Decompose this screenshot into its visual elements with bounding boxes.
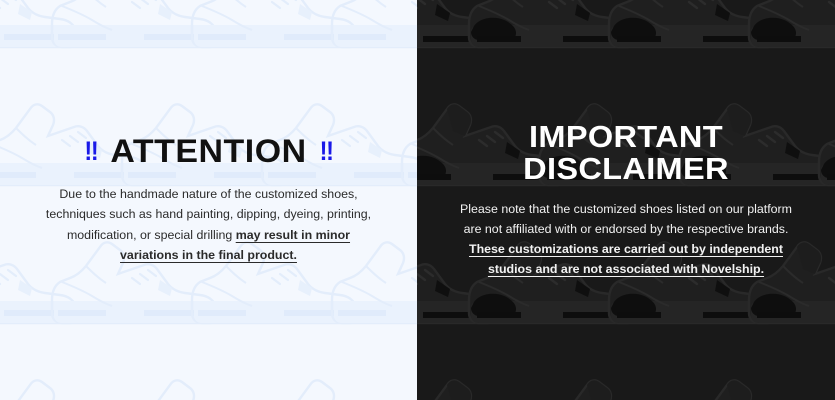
disclaimer-body-plain: Please note that the customized shoes li…: [460, 202, 792, 236]
disclaimer-banner: !! ATTENTION !! Due to the handmade natu…: [0, 0, 835, 400]
disclaimer-headline-line2: DISCLAIMER: [449, 153, 804, 185]
disclaimer-content: IMPORTANT DISCLAIMER Please note that th…: [417, 121, 835, 280]
disclaimer-body-emphasis: These customizations are carried out by …: [469, 242, 783, 276]
attention-panel: !! ATTENTION !! Due to the handmade natu…: [0, 0, 417, 400]
bang-left: !!: [84, 138, 97, 165]
disclaimer-headline: IMPORTANT DISCLAIMER: [449, 121, 804, 185]
attention-headline: !! ATTENTION !!: [34, 135, 383, 167]
attention-content: !! ATTENTION !! Due to the handmade natu…: [0, 135, 417, 264]
bang-right: !!: [320, 138, 333, 165]
disclaimer-panel: IMPORTANT DISCLAIMER Please note that th…: [417, 0, 835, 400]
attention-body: Due to the handmade nature of the custom…: [44, 184, 373, 264]
attention-headline-word: ATTENTION: [110, 135, 306, 167]
disclaimer-headline-line1: IMPORTANT: [449, 121, 804, 153]
disclaimer-body: Please note that the customized shoes li…: [457, 199, 795, 279]
